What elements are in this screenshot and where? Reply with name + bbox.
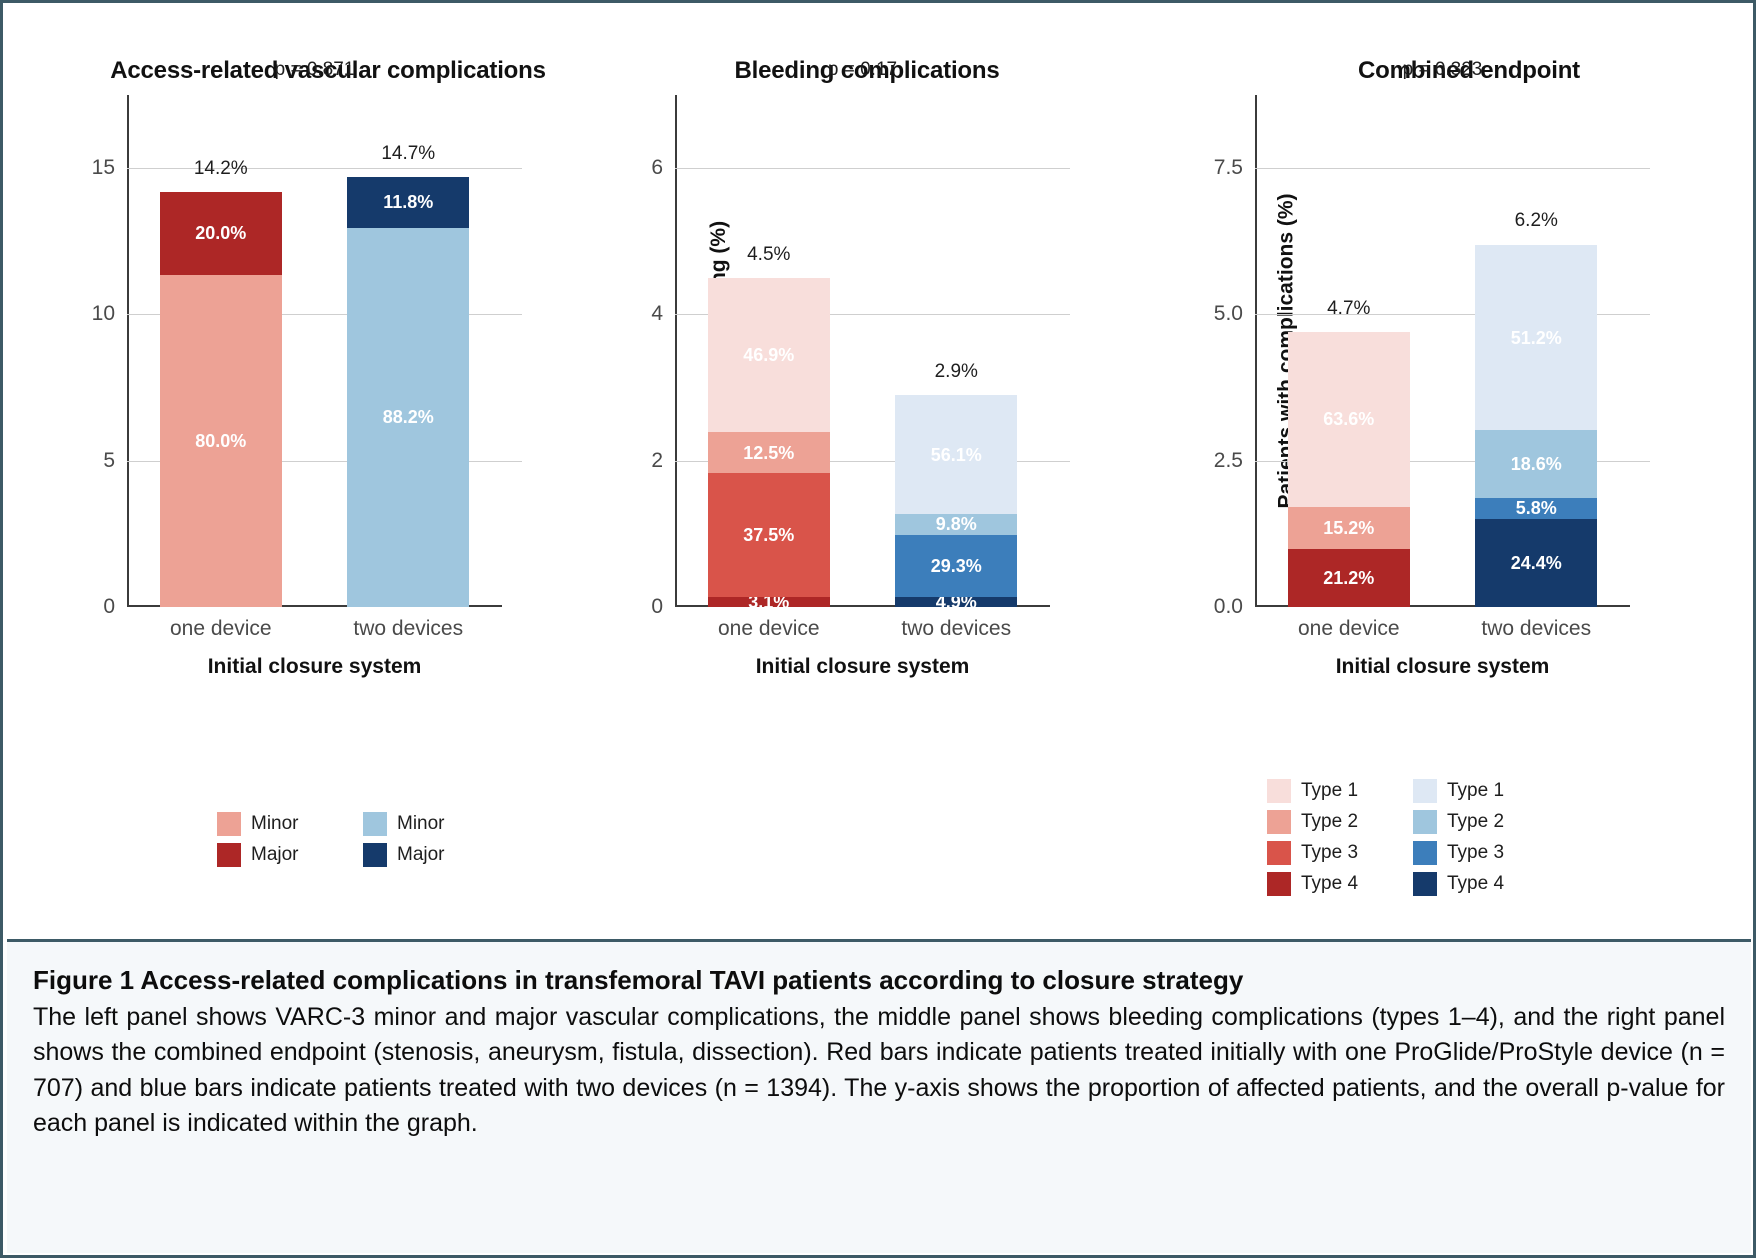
bar-segment[interactable]: 46.9% [708, 278, 830, 432]
legend-label: Minor [251, 813, 299, 835]
gridline: 0 [675, 607, 1070, 608]
segment-percent-label: 56.1% [931, 446, 982, 464]
stacked-bar[interactable]: 80.0%20.0% [160, 192, 282, 607]
y-tick-label: 15 [92, 156, 115, 180]
segment-percent-label: 29.3% [931, 557, 982, 575]
y-tick-label: 5.0 [1214, 302, 1243, 326]
bar-segment[interactable]: 24.4% [1475, 519, 1597, 607]
segment-percent-label: 11.8% [383, 193, 433, 211]
bar-group: 88.2%11.8%14.7%two devices [315, 95, 503, 607]
bar-segment[interactable]: 37.5% [708, 473, 830, 597]
bar-group: 4.9%29.3%9.8%56.1%2.9%two devices [863, 95, 1051, 607]
caption-body: The left panel shows VARC-3 minor and ma… [33, 1000, 1725, 1142]
x-axis-label: Initial closure system [127, 655, 502, 679]
segment-percent-label: 24.4% [1511, 554, 1562, 572]
plot-area: Patients with bleeding (%) p = 0.17 0246… [675, 95, 1050, 607]
segment-percent-label: 46.9% [743, 346, 794, 364]
panel-access-related-vascular-complications: Access-related vascular complications Pa… [7, 7, 589, 937]
legend-item[interactable]: Major [217, 843, 349, 867]
bar-segment[interactable]: 56.1% [895, 395, 1017, 514]
x-axis-label: Initial closure system [1255, 655, 1630, 679]
legend-label: Minor [397, 813, 445, 835]
bar-segment[interactable]: 29.3% [895, 535, 1017, 597]
bar-total-label: 6.2% [1515, 210, 1558, 232]
figure-page: Access-related vascular complications Pa… [0, 0, 1756, 1258]
y-tick-label: 10 [92, 302, 115, 326]
segment-percent-label: 20.0% [195, 224, 246, 242]
y-tick-label: 0.0 [1214, 595, 1243, 619]
y-tick-label: 2 [651, 449, 663, 473]
bar-group: 80.0%20.0%14.2%one device [127, 95, 315, 607]
plot-area: Patients with complications (%) p = 0.32… [1255, 95, 1630, 607]
bar-segment[interactable]: 11.8% [347, 177, 469, 228]
legend-swatch-icon [363, 812, 387, 836]
y-tick-label: 2.5 [1214, 449, 1243, 473]
bar-segment[interactable]: 51.2% [1475, 245, 1597, 430]
x-tick-label: two devices [901, 617, 1011, 641]
stacked-bar[interactable]: 3.1%37.5%12.5%46.9% [708, 278, 830, 607]
panel-bleeding-complications: Bleeding complications Patients with ble… [567, 7, 1127, 937]
segment-percent-label: 5.8% [1516, 499, 1557, 517]
figure-chart-area: Access-related vascular complications Pa… [7, 7, 1751, 937]
legend-label: Major [397, 844, 445, 866]
legend-column-red: MinorMajor [217, 812, 349, 867]
segment-percent-label: 21.2% [1323, 569, 1374, 587]
segment-percent-label: 12.5% [743, 444, 794, 462]
bar-total-label: 14.7% [381, 143, 435, 165]
bar-segment[interactable]: 5.8% [1475, 498, 1597, 519]
gridline: 0.0 [1255, 607, 1650, 608]
panel-combined-endpoint: Combined endpoint Patients with complica… [1107, 7, 1751, 937]
figure-caption: Figure 1 Access-related complications in… [7, 939, 1751, 1253]
bar-total-label: 4.7% [1327, 298, 1370, 320]
bar-group: 21.2%15.2%63.6%4.7%one device [1255, 95, 1443, 607]
bar-segment[interactable]: 3.1% [708, 597, 830, 607]
y-tick-label: 5 [103, 449, 115, 473]
segment-percent-label: 88.2% [383, 408, 434, 426]
gridline: 0 [127, 607, 522, 608]
segment-percent-label: 80.0% [195, 432, 246, 450]
legend-label: Major [251, 844, 299, 866]
x-tick-label: two devices [1481, 617, 1591, 641]
legend-swatch-icon [217, 812, 241, 836]
bar-segment[interactable]: 9.8% [895, 514, 1017, 534]
x-axis-label: Initial closure system [675, 655, 1050, 679]
y-tick-label: 0 [103, 595, 115, 619]
stacked-bar[interactable]: 88.2%11.8% [347, 177, 469, 607]
y-tick-label: 0 [651, 595, 663, 619]
legend-item[interactable]: Major [363, 843, 495, 867]
bar-total-label: 2.9% [935, 361, 978, 383]
bar-total-label: 14.2% [194, 158, 248, 180]
stacked-bar[interactable]: 21.2%15.2%63.6% [1288, 332, 1410, 607]
y-tick-label: 4 [651, 302, 663, 326]
bar-group: 3.1%37.5%12.5%46.9%4.5%one device [675, 95, 863, 607]
bar-segment[interactable]: 63.6% [1288, 332, 1410, 507]
legend-item[interactable]: Minor [363, 812, 495, 836]
bar-segment[interactable]: 4.9% [895, 597, 1017, 607]
caption-title: Figure 1 Access-related complications in… [33, 964, 1725, 998]
x-tick-label: one device [718, 617, 820, 641]
bar-segment[interactable]: 88.2% [347, 228, 469, 607]
segment-percent-label: 51.2% [1511, 329, 1562, 347]
x-tick-label: one device [1298, 617, 1400, 641]
legend-swatch-icon [363, 843, 387, 867]
segment-percent-label: 4.9% [936, 597, 977, 607]
plot-area: Patients with complications (%) p = 0.87… [127, 95, 502, 607]
legend-item[interactable]: Minor [217, 812, 349, 836]
y-tick-label: 6 [651, 156, 663, 180]
segment-percent-label: 9.8% [936, 515, 977, 533]
x-tick-label: two devices [353, 617, 463, 641]
stacked-bar[interactable]: 4.9%29.3%9.8%56.1% [895, 395, 1017, 607]
bar-segment[interactable]: 80.0% [160, 275, 282, 607]
bar-total-label: 4.5% [747, 244, 790, 266]
legend: MinorMajorMinorMajor [217, 812, 495, 867]
segment-percent-label: 3.1% [748, 597, 789, 607]
segment-percent-label: 18.6% [1511, 455, 1562, 473]
legend-column-blue: MinorMajor [363, 812, 495, 867]
segment-percent-label: 37.5% [743, 526, 794, 544]
legend-swatch-icon [217, 843, 241, 867]
stacked-bar[interactable]: 24.4%5.8%18.6%51.2% [1475, 244, 1597, 607]
bar-segment[interactable]: 15.2% [1288, 507, 1410, 549]
bar-segment[interactable]: 12.5% [708, 432, 830, 473]
segment-percent-label: 15.2% [1323, 519, 1374, 537]
y-tick-label: 7.5 [1214, 156, 1243, 180]
x-tick-label: one device [170, 617, 272, 641]
p-value-annotation: p = 0.871 [275, 59, 355, 81]
bar-segment[interactable]: 18.6% [1475, 430, 1597, 497]
bar-segment[interactable]: 20.0% [160, 192, 282, 275]
p-value-annotation: p = 0.323 [1403, 59, 1483, 81]
segment-percent-label: 63.6% [1323, 410, 1374, 428]
bar-segment[interactable]: 21.2% [1288, 549, 1410, 608]
bar-group: 24.4%5.8%18.6%51.2%6.2%two devices [1443, 95, 1631, 607]
p-value-annotation: p = 0.17 [828, 59, 897, 81]
